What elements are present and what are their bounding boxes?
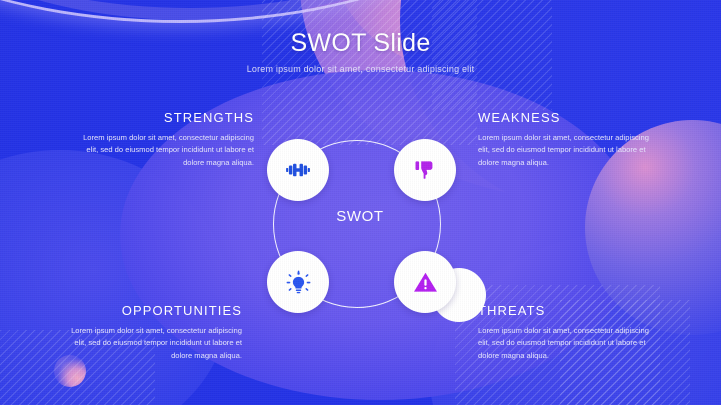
page-title: SWOT Slide xyxy=(0,30,721,58)
page-subtitle: Lorem ipsum dolor sit amet, consectetur … xyxy=(0,64,721,74)
diagram-center-label: SWOT xyxy=(256,208,464,225)
diagram-node-strengths[interactable] xyxy=(267,139,329,201)
quadrant-threats: THREATS Lorem ipsum dolor sit amet, cons… xyxy=(478,303,650,362)
slide-header: SWOT Slide Lorem ipsum dolor sit amet, c… xyxy=(0,30,721,74)
diagram-node-opportunities[interactable] xyxy=(267,251,329,313)
quadrant-heading-weakness: WEAKNESS xyxy=(478,110,650,125)
quadrant-strengths: STRENGTHS Lorem ipsum dolor sit amet, co… xyxy=(82,110,254,169)
quadrant-body-threats: Lorem ipsum dolor sit amet, consectetur … xyxy=(478,325,650,362)
dumbbell-icon xyxy=(285,157,311,183)
warning-triangle-icon xyxy=(413,270,438,295)
quadrant-weakness: WEAKNESS Lorem ipsum dolor sit amet, con… xyxy=(478,110,650,169)
swot-slide: SWOT Slide Lorem ipsum dolor sit amet, c… xyxy=(0,0,721,405)
swot-diagram: SWOT xyxy=(256,132,464,312)
quadrant-body-weakness: Lorem ipsum dolor sit amet, consectetur … xyxy=(478,132,650,169)
quadrant-body-opportunities: Lorem ipsum dolor sit amet, consectetur … xyxy=(70,325,242,362)
diagram-node-threats[interactable] xyxy=(394,251,456,313)
diagram-node-weakness[interactable] xyxy=(394,139,456,201)
quadrant-heading-threats: THREATS xyxy=(478,303,650,318)
lightbulb-icon xyxy=(286,270,311,295)
thumbs-down-icon xyxy=(413,158,437,182)
quadrant-heading-strengths: STRENGTHS xyxy=(82,110,254,125)
quadrant-heading-opportunities: OPPORTUNITIES xyxy=(70,303,242,318)
quadrant-body-strengths: Lorem ipsum dolor sit amet, consectetur … xyxy=(82,132,254,169)
quadrant-opportunities: OPPORTUNITIES Lorem ipsum dolor sit amet… xyxy=(70,303,242,362)
